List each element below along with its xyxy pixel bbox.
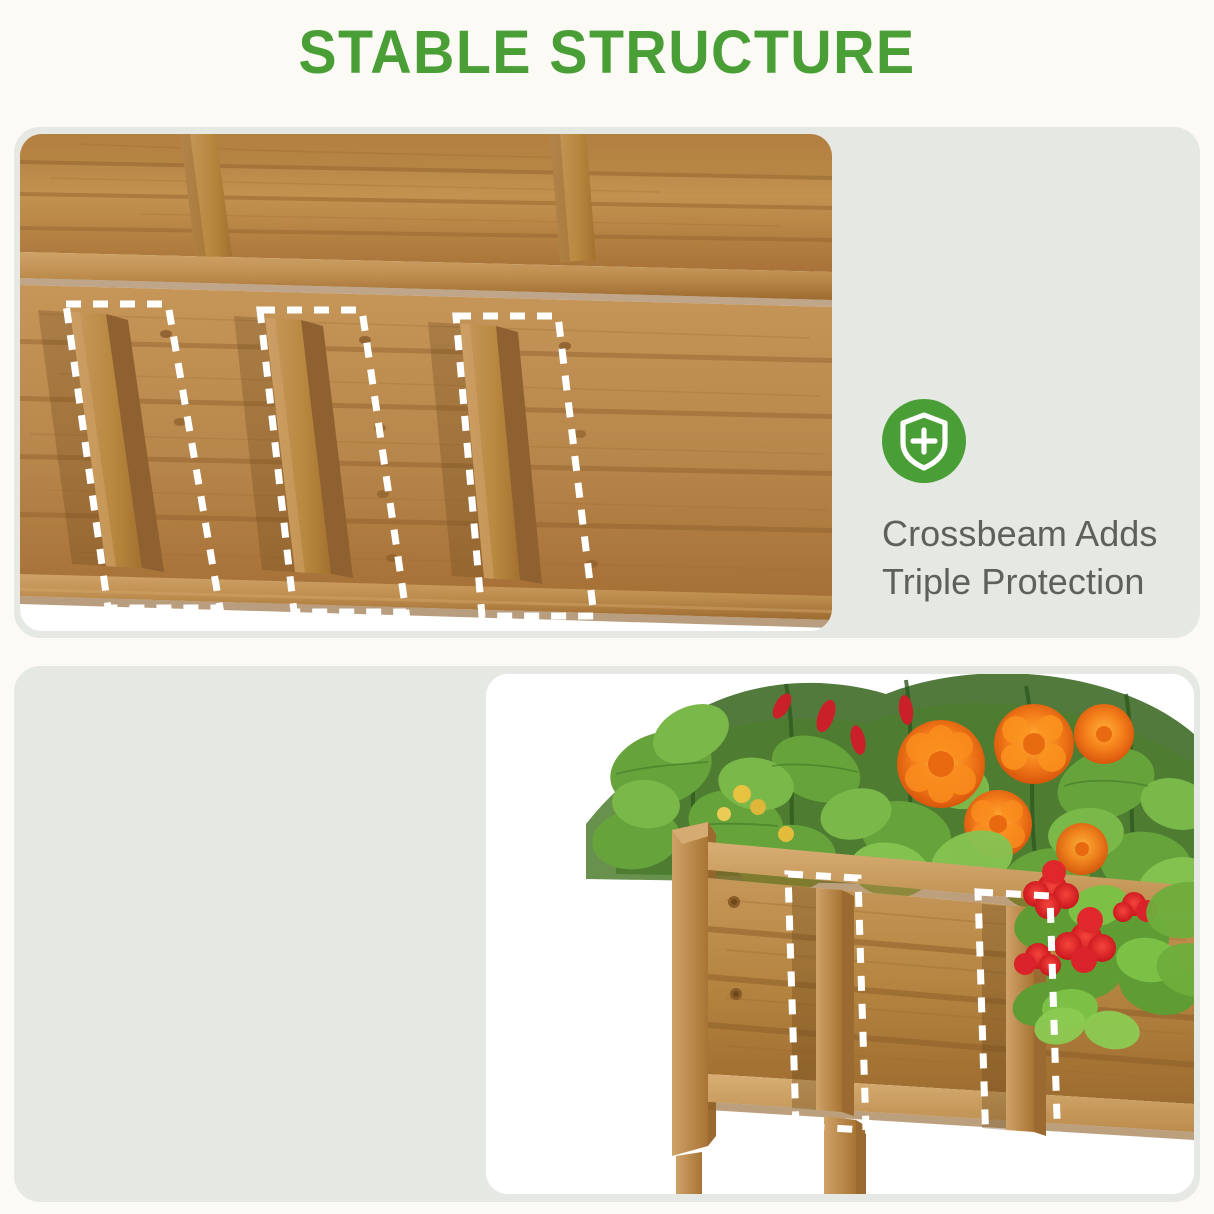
feature-card-crossbeam: Crossbeam Adds Triple Protection (14, 127, 1200, 638)
side-bars-image-panel (486, 674, 1194, 1194)
crossbeam-caption: Crossbeam Adds Triple Protection (882, 510, 1182, 606)
caption-line: Crossbeam Adds (882, 510, 1182, 558)
shield-plus-icon (882, 399, 966, 483)
planter-photo-illustration (486, 674, 1194, 1194)
wood-underside-illustration (20, 134, 832, 631)
crossbeam-image-panel (20, 134, 832, 631)
caption-line: Triple Protection (882, 558, 1182, 606)
crossbeam-feature-block: Crossbeam Adds Triple Protection (882, 399, 1182, 606)
feature-card-side-bars: Side Bars Prevent Soil from Spilling fro… (14, 666, 1200, 1202)
page-title: STABLE STRUCTURE (36, 22, 1177, 83)
